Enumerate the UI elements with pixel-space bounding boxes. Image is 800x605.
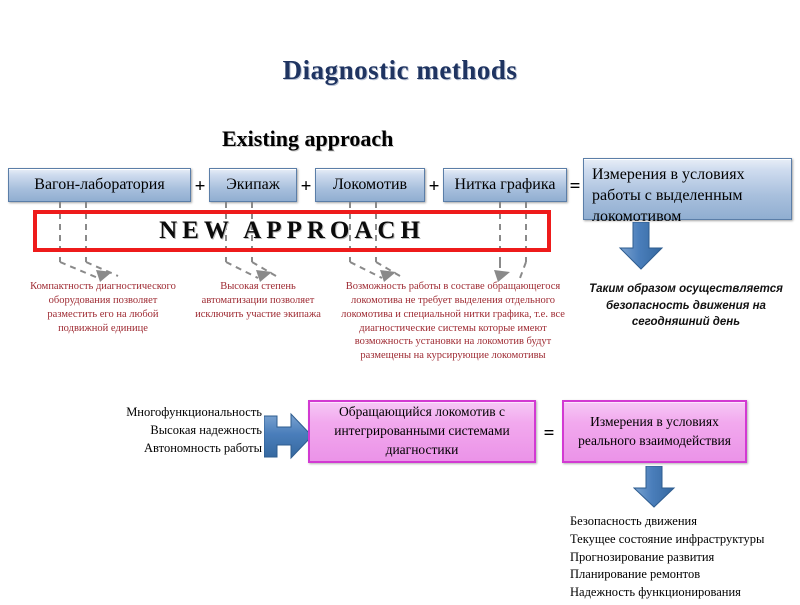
- box-lokomotiv-label: Локомотив: [333, 176, 407, 194]
- benefit-item-3: Планирование ремонтов: [570, 566, 795, 584]
- box-nitka-grafika-label: Нитка графика: [455, 176, 556, 194]
- box-integrated-diagnostics-locomotive-label: Обращающийся локомотив с интегрированным…: [316, 403, 528, 460]
- box-ekipazh-label: Экипаж: [226, 176, 280, 194]
- box-measurements-dedicated-locomotive-label: Измерения в условиях работы с выделенным…: [592, 164, 783, 227]
- benefit-list: Безопасность движения Текущее состояние …: [570, 513, 795, 602]
- benefit-item-1: Текущее состояние инфраструктуры: [570, 531, 795, 549]
- box-integrated-diagnostics-locomotive[interactable]: Обращающийся локомотив с интегрированным…: [308, 400, 536, 463]
- caption-current-safety: Таким образом осуществляется безопасност…: [576, 281, 796, 331]
- operator-plus-3: +: [425, 176, 443, 198]
- benefit-item-0: Безопасность движения: [570, 513, 795, 531]
- right-arrow-to-center-box: [264, 412, 314, 462]
- feature-item-1: Высокая надежность: [100, 422, 262, 440]
- box-nitka-grafika[interactable]: Нитка графика: [443, 168, 567, 202]
- box-vagon-laboratoriya[interactable]: Вагон-лаборатория: [8, 168, 191, 202]
- note-automation: Высокая степень автоматизации позволяет …: [188, 280, 328, 322]
- feature-list: Многофункциональность Высокая надежность…: [100, 404, 262, 457]
- feature-item-2: Автономность работы: [100, 440, 262, 458]
- new-approach-label: NEW APPROACH: [33, 210, 551, 252]
- note-operating-in-train: Возможность работы в составе обращающего…: [333, 280, 573, 363]
- feature-item-0: Многофункциональность: [100, 404, 262, 422]
- box-measurements-dedicated-locomotive[interactable]: Измерения в условиях работы с выделенным…: [583, 158, 792, 220]
- benefit-item-4: Надежность функционирования: [570, 584, 795, 602]
- benefit-item-2: Прогнозирование развития: [570, 549, 795, 567]
- diagram-canvas: Diagnostic methods Existing approach Ваг…: [0, 0, 800, 605]
- section-title-existing-approach: Existing approach: [222, 126, 393, 152]
- box-vagon-laboratoriya-label: Вагон-лаборатория: [34, 176, 164, 194]
- operator-plus-1: +: [191, 176, 209, 198]
- down-arrow-to-caption: [618, 222, 664, 270]
- box-ekipazh[interactable]: Экипаж: [209, 168, 297, 202]
- box-measurements-real-interaction-label: Измерения в условиях реального взаимодей…: [570, 413, 739, 451]
- operator-equals-bottom: =: [540, 423, 558, 445]
- operator-equals-top: =: [567, 176, 583, 198]
- note-compactness: Компактность диагностического оборудован…: [28, 280, 178, 335]
- box-measurements-real-interaction[interactable]: Измерения в условиях реального взаимодей…: [562, 400, 747, 463]
- operator-plus-2: +: [297, 176, 315, 198]
- box-lokomotiv[interactable]: Локомотив: [315, 168, 425, 202]
- page-title: Diagnostic methods: [0, 55, 800, 86]
- down-arrow-to-benefits: [633, 466, 677, 508]
